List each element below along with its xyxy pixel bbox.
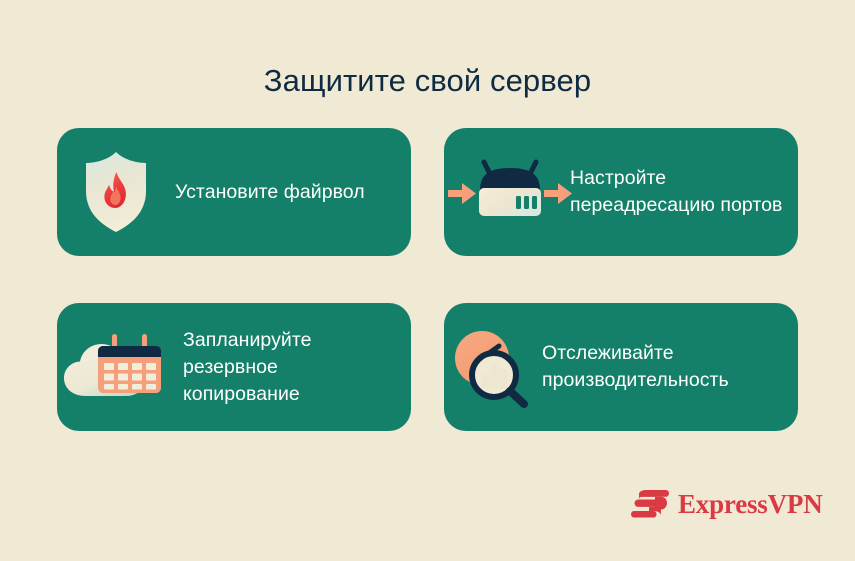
- card-firewall-label: Установите файрвол: [175, 179, 411, 206]
- expressvpn-logo[interactable]: ExpressVPN: [631, 484, 823, 524]
- card-firewall[interactable]: Установите файрвол: [57, 128, 411, 256]
- card-monitoring-label: Отслеживайте производительность: [542, 340, 798, 394]
- card-backup-label: Запланируйте резервное копирование: [183, 327, 411, 408]
- router-arrows-icon: [444, 142, 576, 242]
- expressvpn-e-mark-icon: [631, 488, 669, 520]
- card-port-forwarding[interactable]: Настройте переадресацию портов: [444, 128, 798, 256]
- magnifier-chart-gauge-icon: [444, 317, 542, 417]
- expressvpn-wordmark: ExpressVPN: [678, 489, 823, 519]
- card-backup[interactable]: Запланируйте резервное копирование: [57, 303, 411, 431]
- cloud-calendar-icon: [57, 317, 183, 417]
- shield-flame-icon: [57, 142, 175, 242]
- page-title: Защитите свой сервер: [0, 61, 855, 101]
- card-grid: Установите файрвол: [57, 128, 798, 431]
- card-monitoring[interactable]: Отслеживайте производительность: [444, 303, 798, 431]
- infographic-canvas: Защитите свой сервер: [0, 0, 855, 561]
- card-port-forwarding-label: Настройте переадресацию портов: [570, 165, 798, 219]
